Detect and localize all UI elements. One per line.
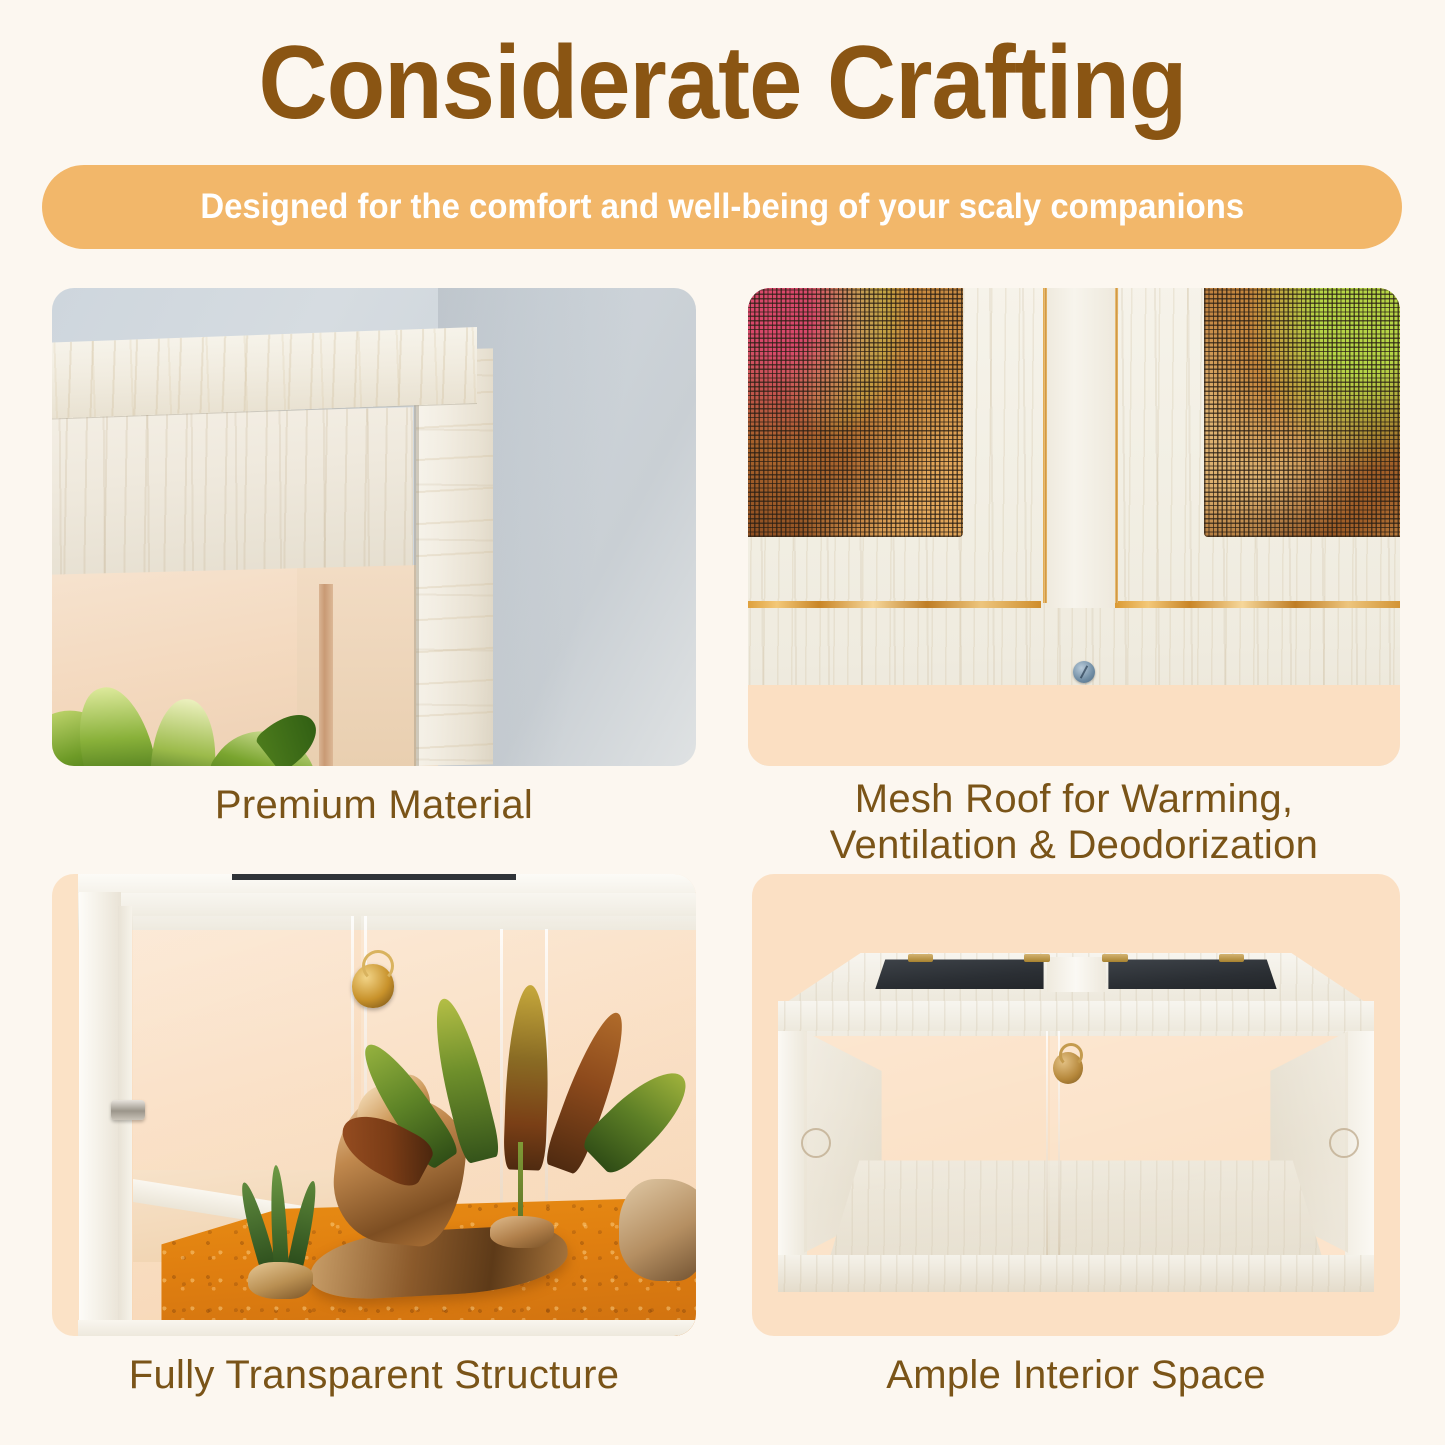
- panel-4-mesh-panel-left: [875, 959, 1043, 989]
- panel-2-mesh-right-screen: [1204, 288, 1400, 537]
- panel-2-screw: [1073, 661, 1095, 683]
- panel-1-front-board-grain: [52, 407, 413, 575]
- panel-1-front-board: [52, 407, 413, 575]
- panel-premium-material: [52, 288, 696, 766]
- panel-2-gold-trim-left: [748, 601, 1041, 608]
- panel-1-inner-strut: [319, 584, 333, 766]
- caption-line: Mesh Roof for Warming,: [736, 776, 1412, 822]
- panel-3-door-knob: [111, 1100, 145, 1120]
- panel-ample-interior-space: [752, 874, 1400, 1336]
- caption-line: Fully Transparent Structure: [52, 1352, 696, 1398]
- panel-4-padlock-ring: [1059, 1043, 1083, 1067]
- caption-fully-transparent-structure: Fully Transparent Structure: [52, 1352, 696, 1398]
- panel-mesh-roof: [748, 288, 1400, 766]
- panel-4-glass-right-door: [1050, 1031, 1345, 1257]
- panel-1-vertical-post: [416, 349, 493, 766]
- panel-3-rock-right: [619, 1179, 696, 1281]
- panel-2-peach-band: [748, 685, 1400, 766]
- panel-4-base-rail-grain: [778, 1255, 1374, 1292]
- panel-2-mesh-window-left: [748, 288, 963, 537]
- panel-2-gold-trim-right: [1113, 601, 1400, 608]
- panel-3-roof-dark-strip: [232, 874, 515, 880]
- panel-4-vent-right: [1329, 1128, 1359, 1158]
- panel-4-vent-left: [801, 1128, 831, 1158]
- caption-line: Ample Interior Space: [752, 1352, 1400, 1398]
- panel-4-hinge-2: [1024, 954, 1050, 961]
- caption-premium-material: Premium Material: [52, 782, 696, 828]
- caption-ample-interior-space: Ample Interior Space: [752, 1352, 1400, 1398]
- panel-3-foliage-base: [490, 1216, 554, 1248]
- panel-2-center-divider: [1047, 288, 1115, 608]
- panel-4-glass-left-door: [807, 1031, 1047, 1257]
- panel-4-hinge-3: [1102, 954, 1128, 961]
- subtitle-banner: Designed for the comfort and well-being …: [42, 165, 1402, 249]
- panel-1-top-beam-grain: [52, 327, 477, 420]
- panel-2-mesh-left-screen: [748, 288, 963, 537]
- panel-2-mesh-window-right: [1204, 288, 1400, 537]
- panel-4-base-rail: [778, 1255, 1374, 1292]
- panel-4-glass-seam: [1046, 1031, 1048, 1257]
- caption-line: Premium Material: [52, 782, 696, 828]
- panel-4-mesh-panel-right: [1108, 959, 1276, 989]
- panel-4-hinge-4: [1219, 954, 1245, 961]
- infographic-page: Considerate Crafting Designed for the co…: [0, 0, 1445, 1445]
- subtitle-text: Designed for the comfort and well-being …: [200, 187, 1244, 227]
- panel-1-top-beam: [52, 327, 477, 420]
- panel-4-hinge-1: [908, 954, 934, 961]
- panel-4-roof-center-divider: [1047, 957, 1105, 992]
- panel-3-left-post-inner: [118, 906, 132, 1336]
- panel-3-aloe-base-rock: [248, 1262, 312, 1299]
- panel-1-post-edge-line: [414, 350, 419, 766]
- caption-mesh-roof: Mesh Roof for Warming, Ventilation & Deo…: [736, 776, 1412, 868]
- panel-3-bottom-rail: [78, 1320, 696, 1336]
- panel-1-post-grain: [416, 349, 493, 766]
- panel-fully-transparent-structure: [52, 874, 696, 1336]
- page-title: Considerate Crafting: [58, 28, 1387, 138]
- caption-line: Ventilation & Deodorization: [736, 822, 1412, 868]
